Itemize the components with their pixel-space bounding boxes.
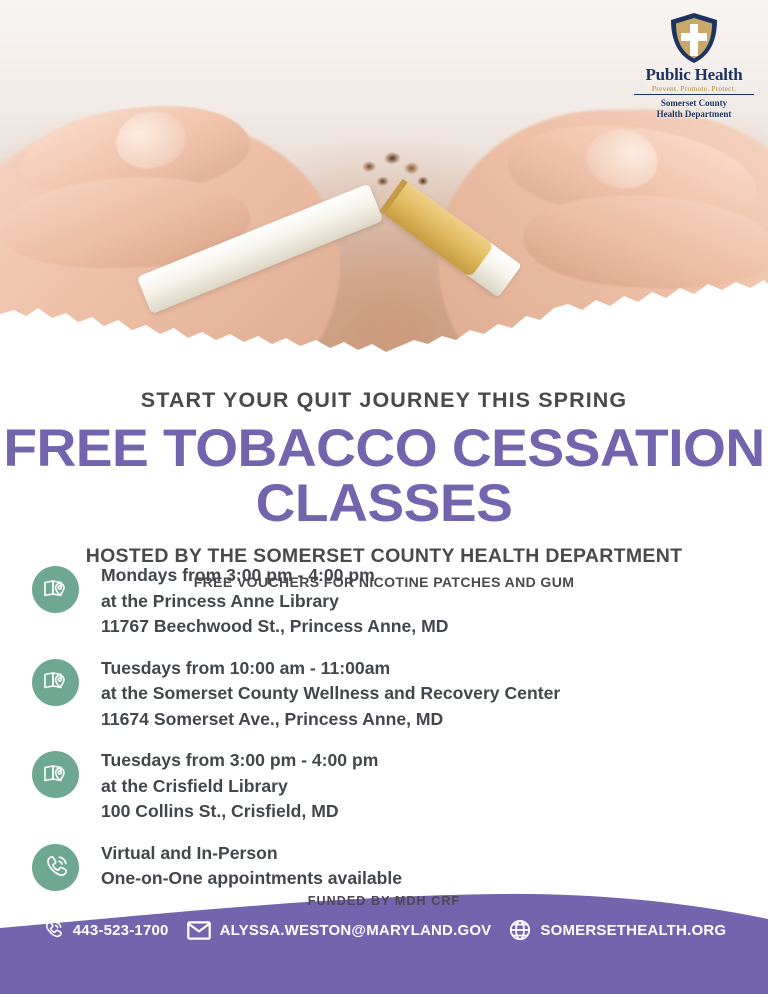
logo-title: Public Health <box>634 66 754 84</box>
list-item: Tuesdays from 10:00 am - 11:00am at the … <box>32 656 732 733</box>
schedule-list: Mondays from 3:00 pm - 4:00 pm at the Pr… <box>32 563 732 908</box>
schedule-line-2: at the Somerset County Wellness and Reco… <box>101 681 560 707</box>
schedule-line-3: 11674 Somerset Ave., Princess Anne, MD <box>101 707 560 733</box>
schedule-line-3: 11767 Beechwood St., Princess Anne, MD <box>101 614 448 640</box>
book-location-icon <box>32 751 79 798</box>
email-contact[interactable]: ALYSSA.WESTON@MARYLAND.GOV <box>187 921 492 940</box>
book-location-icon <box>32 659 79 706</box>
logo-department-line2: Health Department <box>657 109 732 119</box>
headline-block: START YOUR QUIT JOURNEY THIS SPRING FREE… <box>0 388 768 590</box>
logo-tagline: Prevent. Promote. Protect. <box>634 84 754 95</box>
footer-bar: FUNDED BY MDH CRF 443-523-1700 ALYSSA.WE… <box>0 879 768 994</box>
shield-cross-icon <box>669 12 719 64</box>
schedule-text: Tuesdays from 3:00 pm - 4:00 pm at the C… <box>101 748 378 825</box>
phone-ring-icon <box>42 919 64 941</box>
website-contact[interactable]: SOMERSETHEALTH.ORG <box>509 919 726 941</box>
schedule-line-1: Tuesdays from 10:00 am - 11:00am <box>101 656 560 682</box>
envelope-icon <box>187 921 211 940</box>
spilled-tobacco <box>350 144 441 205</box>
schedule-line-2: at the Princess Anne Library <box>101 589 448 615</box>
logo-department: Somerset County Health Department <box>634 98 754 120</box>
public-health-logo: Public Health Prevent. Promote. Protect.… <box>634 12 754 119</box>
phone-number: 443-523-1700 <box>73 922 169 939</box>
schedule-line-2: at the Crisfield Library <box>101 774 378 800</box>
schedule-text: Tuesdays from 10:00 am - 11:00am at the … <box>101 656 560 733</box>
schedule-text: Mondays from 3:00 pm - 4:00 pm at the Pr… <box>101 563 448 640</box>
funded-by-text: FUNDED BY MDH CRF <box>0 894 768 908</box>
email-address: ALYSSA.WESTON@MARYLAND.GOV <box>220 922 492 939</box>
book-location-icon <box>32 566 79 613</box>
schedule-line-1: Tuesdays from 3:00 pm - 4:00 pm <box>101 748 378 774</box>
flyer-page: Public Health Prevent. Promote. Protect.… <box>0 0 768 994</box>
globe-icon <box>509 919 531 941</box>
eyebrow-text: START YOUR QUIT JOURNEY THIS SPRING <box>0 388 768 413</box>
schedule-line-1: Virtual and In-Person <box>101 841 402 867</box>
schedule-line-3: 100 Collins St., Crisfield, MD <box>101 799 378 825</box>
list-item: Tuesdays from 3:00 pm - 4:00 pm at the C… <box>32 748 732 825</box>
contact-strip: 443-523-1700 ALYSSA.WESTON@MARYLAND.GOV … <box>0 919 768 941</box>
schedule-line-1: Mondays from 3:00 pm - 4:00 pm <box>101 563 448 589</box>
torn-paper-edge <box>0 270 768 360</box>
phone-contact[interactable]: 443-523-1700 <box>42 919 169 941</box>
logo-department-line1: Somerset County <box>661 98 727 108</box>
website-url: SOMERSETHEALTH.ORG <box>540 922 726 939</box>
list-item: Mondays from 3:00 pm - 4:00 pm at the Pr… <box>32 563 732 640</box>
page-title: FREE TOBACCO CESSATION CLASSES <box>0 421 768 531</box>
